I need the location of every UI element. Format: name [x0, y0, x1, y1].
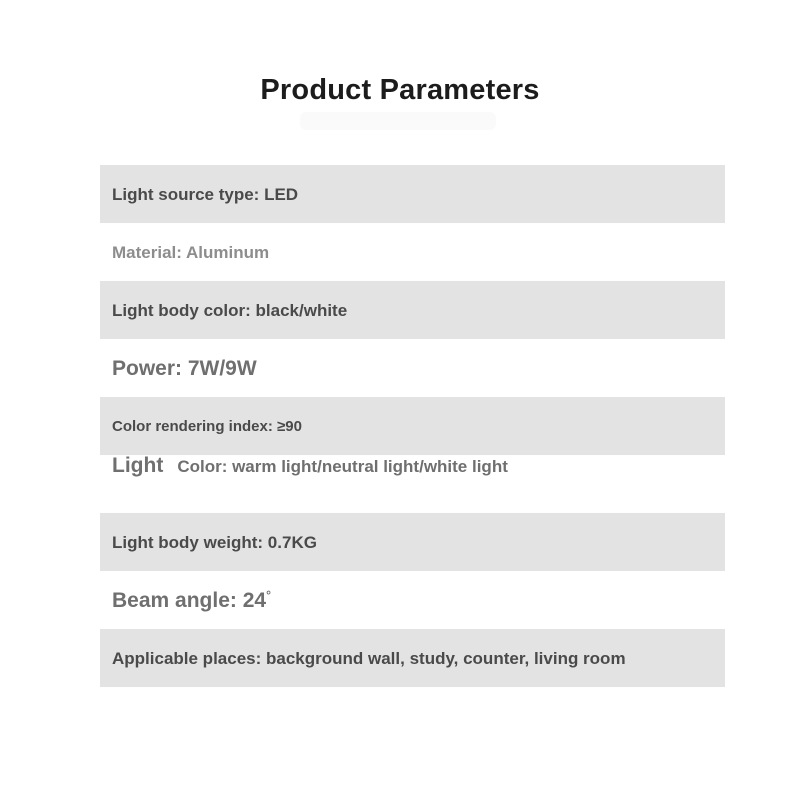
spec-row-label: Beam angle: 24° — [112, 590, 271, 611]
table-row: Color rendering index: ≥90 — [100, 397, 725, 455]
spec-table: Light source type: LED Material: Aluminu… — [100, 165, 725, 687]
product-parameters-page: Product Parameters Light source type: LE… — [0, 0, 800, 800]
page-title: Product Parameters — [0, 74, 800, 107]
spec-row-label: Color rendering index: ≥90 — [112, 419, 302, 434]
table-row: Applicable places: background wall, stud… — [100, 629, 725, 687]
spec-row-label: Power: 7W/9W — [112, 358, 257, 379]
spec-row-label: Light body color: black/white — [112, 302, 347, 319]
degree-symbol: ° — [266, 588, 271, 602]
spec-row-label: Material: Aluminum — [112, 244, 269, 261]
watermark-smudge — [300, 112, 496, 130]
table-row: Light Color: warm light/neutral light/wh… — [100, 455, 725, 513]
spec-row-label: Light — [112, 455, 163, 476]
table-row: Light source type: LED — [100, 165, 725, 223]
spec-row-label: Applicable places: background wall, stud… — [112, 650, 626, 667]
spec-row-label-value: Beam angle: 24 — [112, 589, 266, 612]
table-row: Light body weight: 0.7KG — [100, 513, 725, 571]
spec-row-label-secondary: Color: warm light/neutral light/white li… — [177, 458, 508, 475]
spec-row-label: Light source type: LED — [112, 186, 298, 203]
table-row: Material: Aluminum — [100, 223, 725, 281]
table-row: Beam angle: 24° — [100, 571, 725, 629]
spec-row-label: Light body weight: 0.7KG — [112, 534, 317, 551]
table-row: Power: 7W/9W — [100, 339, 725, 397]
table-row: Light body color: black/white — [100, 281, 725, 339]
